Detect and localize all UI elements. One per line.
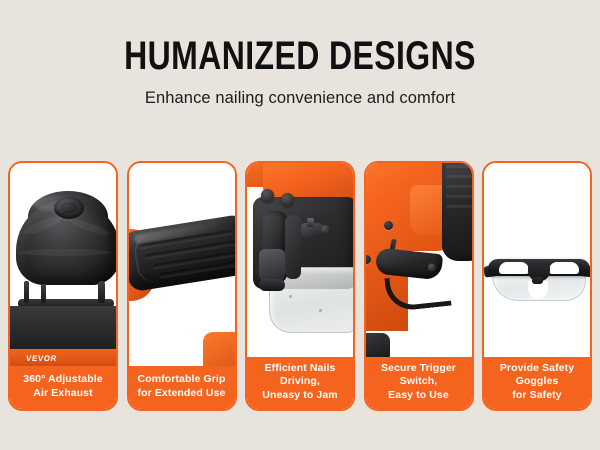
caption-line: Switch,	[368, 375, 470, 388]
guard-speck	[289, 295, 292, 298]
nose-tip-end	[259, 279, 285, 291]
grip-ridge	[446, 175, 472, 178]
goggles-nose-piece	[532, 277, 543, 284]
caption-line: Provide Safety	[486, 362, 588, 375]
housing-pin	[41, 284, 46, 303]
housing-bolt	[281, 193, 294, 206]
exhaust-highlight	[32, 195, 76, 211]
feature-card-safety-goggles[interactable]: Provide Safety Goggles for Safety	[482, 161, 592, 411]
grip-ridge	[446, 195, 472, 198]
frame-vent	[510, 262, 512, 267]
safety-goggles	[488, 251, 590, 307]
trigger-pin	[427, 263, 436, 272]
grip-edge	[131, 232, 174, 285]
orange-housing-bottom	[203, 332, 235, 366]
feature-card-secure-trigger[interactable]: Secure Trigger Switch, Easy to Use	[364, 161, 474, 411]
drive-arm-secondary	[285, 215, 301, 279]
goggles-photo	[484, 163, 590, 357]
frame-cutout-right	[549, 262, 579, 274]
caption-line: Goggles	[486, 375, 588, 388]
caption-line: 360° Adjustable	[13, 373, 113, 386]
caption-line: Efficient Nails	[249, 362, 351, 375]
air-exhaust-photo: VEVOR	[10, 163, 116, 366]
housing-bolt	[261, 189, 274, 202]
frame-vent	[505, 262, 507, 267]
feature-card-air-exhaust[interactable]: VEVOR 360° Adjustable Air Exhaust	[8, 161, 118, 411]
caption-secure-trigger: Secure Trigger Switch, Easy to Use	[366, 357, 472, 409]
frame-vent	[520, 262, 522, 267]
vevor-logo: VEVOR	[25, 354, 57, 363]
frame-vent	[571, 262, 573, 267]
caption-line: Easy to Use	[368, 389, 470, 402]
feature-card-comfortable-grip[interactable]: Comfortable Grip for Extended Use	[127, 161, 237, 411]
caption-comfortable-grip: Comfortable Grip for Extended Use	[129, 366, 235, 409]
product-feature-banner: HUMANIZED DESIGNS Enhance nailing conven…	[0, 0, 600, 450]
housing-pin	[98, 281, 105, 303]
latch-pin	[307, 218, 314, 227]
page-subtitle: Enhance nailing convenience and comfort	[0, 89, 600, 108]
grip-ridge	[446, 205, 472, 208]
rubber-grip	[129, 214, 235, 293]
tool-foot	[366, 333, 390, 357]
rear-grip	[442, 163, 472, 261]
feature-card-row: VEVOR 360° Adjustable Air Exhaust	[8, 161, 592, 411]
exhaust-ridge	[20, 249, 112, 256]
body-port	[321, 225, 330, 234]
caption-line: Air Exhaust	[13, 387, 113, 400]
caption-line: for Safety	[486, 389, 588, 402]
grip-photo	[129, 163, 235, 366]
banner-header: HUMANIZED DESIGNS Enhance nailing conven…	[0, 0, 600, 108]
frame-vent	[556, 262, 558, 267]
caption-efficient-nails: Efficient Nails Driving, Uneasy to Jam	[247, 357, 353, 409]
feature-card-efficient-nails[interactable]: Efficient Nails Driving, Uneasy to Jam	[245, 161, 355, 411]
frame-vent	[561, 262, 563, 267]
caption-safety-goggles: Provide Safety Goggles for Safety	[484, 357, 590, 409]
grip-ridge	[446, 185, 472, 188]
caption-line: Uneasy to Jam	[249, 389, 351, 402]
body-screw	[384, 221, 393, 230]
nosepiece-photo	[247, 163, 353, 357]
page-title: HUMANIZED DESIGNS	[60, 36, 540, 76]
caption-line: Secure Trigger	[368, 362, 470, 375]
caption-line: for Extended Use	[132, 387, 232, 400]
frame-vent	[515, 262, 517, 267]
grip-ridge	[446, 165, 472, 168]
housing-pin	[24, 281, 29, 303]
guard-speck	[319, 309, 322, 312]
trigger-photo	[366, 163, 472, 357]
caption-line: Driving,	[249, 375, 351, 388]
frame-vent	[566, 262, 568, 267]
caption-line: Comfortable Grip	[132, 373, 232, 386]
caption-air-exhaust: 360° Adjustable Air Exhaust	[10, 366, 116, 409]
frame-cutout-left	[499, 262, 529, 274]
nose-tip	[259, 249, 285, 283]
